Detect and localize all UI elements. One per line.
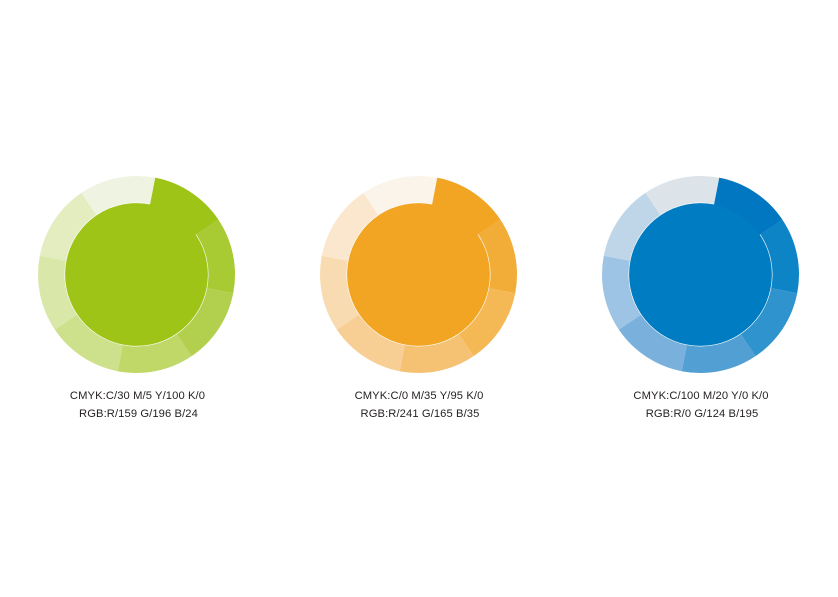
cmyk-value-green: CMYK:C/30 M/5 Y/100 K/0 xyxy=(70,387,205,405)
color-palette-board: CMYK:C/30 M/5 Y/100 K/0 RGB:R/159 G/196 … xyxy=(0,0,838,597)
rgb-value-blue: RGB:R/0 G/124 B/195 xyxy=(633,405,768,423)
inner-disc-orange xyxy=(347,203,490,346)
color-caption-orange: CMYK:C/0 M/35 Y/95 K/0 RGB:R/241 G/165 B… xyxy=(355,387,484,423)
inner-disc-green xyxy=(65,203,208,346)
swatch-group-orange: CMYK:C/0 M/35 Y/95 K/0 RGB:R/241 G/165 B… xyxy=(280,0,559,423)
rgb-value-green: RGB:R/159 G/196 B/24 xyxy=(70,405,205,423)
color-wheel-orange[interactable] xyxy=(320,176,517,373)
color-wheel-blue[interactable] xyxy=(602,176,799,373)
color-wheel-svg-green xyxy=(38,176,235,373)
swatch-group-green: CMYK:C/30 M/5 Y/100 K/0 RGB:R/159 G/196 … xyxy=(1,0,280,423)
inner-disc-blue xyxy=(629,203,772,346)
swatch-group-blue: CMYK:C/100 M/20 Y/0 K/0 RGB:R/0 G/124 B/… xyxy=(559,0,838,423)
color-caption-green: CMYK:C/30 M/5 Y/100 K/0 RGB:R/159 G/196 … xyxy=(70,387,205,423)
color-wheel-svg-orange xyxy=(320,176,517,373)
color-wheel-svg-blue xyxy=(602,176,799,373)
cmyk-value-blue: CMYK:C/100 M/20 Y/0 K/0 xyxy=(633,387,768,405)
rgb-value-orange: RGB:R/241 G/165 B/35 xyxy=(355,405,484,423)
color-wheel-green[interactable] xyxy=(38,176,235,373)
cmyk-value-orange: CMYK:C/0 M/35 Y/95 K/0 xyxy=(355,387,484,405)
color-caption-blue: CMYK:C/100 M/20 Y/0 K/0 RGB:R/0 G/124 B/… xyxy=(633,387,768,423)
